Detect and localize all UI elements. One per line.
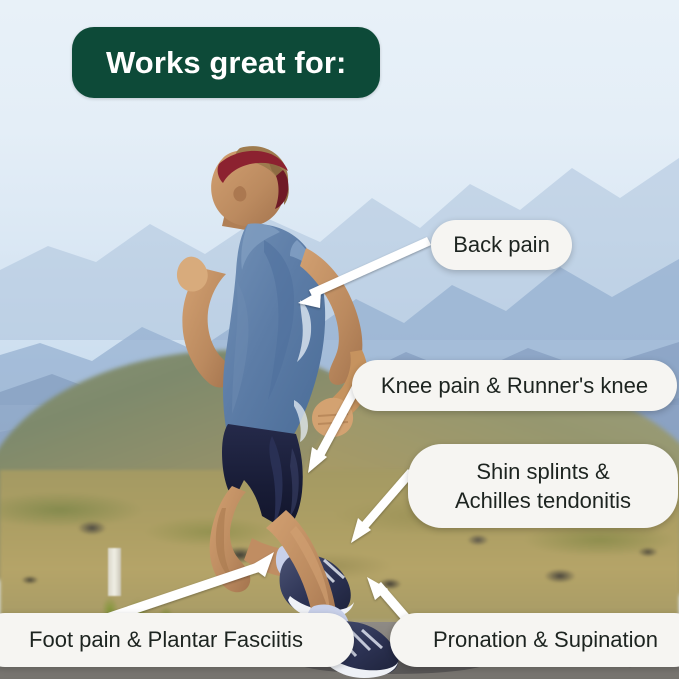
badge-label: Works great for:: [106, 45, 346, 81]
callout-back-pain-label: Back pain: [453, 230, 550, 259]
callout-pronation: Pronation & Supination: [390, 613, 679, 667]
callout-foot-pain: Foot pain & Plantar Fasciitis: [0, 613, 354, 667]
callout-knee-pain-label: Knee pain & Runner's knee: [381, 371, 648, 400]
callout-pronation-label: Pronation & Supination: [433, 625, 658, 654]
callout-shin-splints: Shin splints & Achilles tendonitis: [408, 444, 678, 528]
promo-image: Works great for: Back pain Knee pain & R…: [0, 0, 679, 679]
callout-back-pain: Back pain: [431, 220, 572, 270]
callout-shin-splints-label: Shin splints & Achilles tendonitis: [455, 457, 631, 516]
callout-foot-pain-label: Foot pain & Plantar Fasciitis: [29, 625, 303, 654]
callout-knee-pain: Knee pain & Runner's knee: [352, 360, 677, 411]
works-great-for-badge: Works great for:: [72, 27, 380, 98]
runner-figure: [0, 0, 679, 679]
